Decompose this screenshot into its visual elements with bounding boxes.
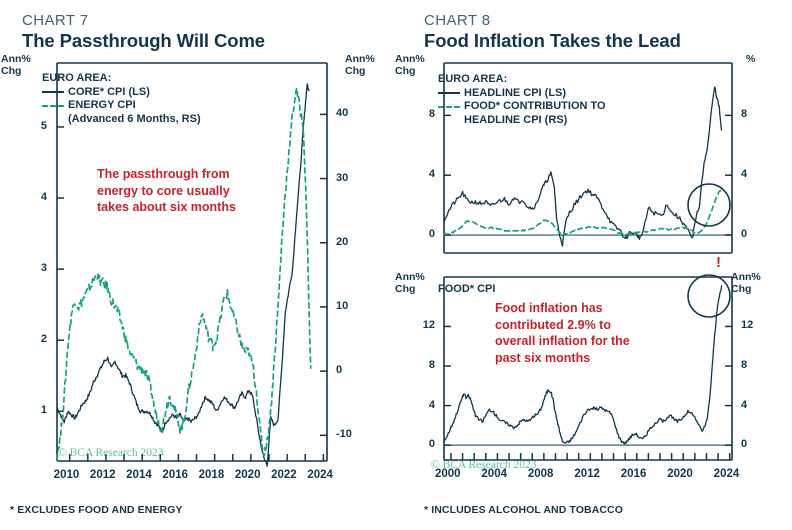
- chart-8-xtick-2008: 2008: [528, 468, 554, 480]
- chart-8-p1-ytick-left-8: 8: [429, 359, 435, 371]
- chart-7-xtick-2012: 2012: [90, 469, 116, 481]
- chart-7-ytick-right-10: 10: [336, 300, 348, 312]
- chart-8-p1-ytick-left-0: 0: [429, 438, 435, 450]
- food-cpi-spike-highlight-circle: [688, 275, 730, 317]
- chart-8-panel: CHART 8 Food Inflation Takes the Lead An…: [396, 0, 792, 530]
- chart-8-xtick-2016: 2016: [621, 468, 647, 480]
- chart-7-xtick-2014: 2014: [126, 469, 152, 481]
- chart-7-xtick-2024: 2024: [307, 469, 333, 481]
- chart-7-ytick-left-3: 3: [41, 262, 47, 274]
- chart-8-p0-ytick-right-0: 0: [741, 228, 747, 240]
- chart-8-p0-ytick-left-8: 8: [429, 108, 435, 120]
- chart-7-ytick-left-2: 2: [41, 333, 47, 345]
- chart-7-ytick-right-0: 0: [336, 364, 342, 376]
- chart-7-xtick-2010: 2010: [54, 469, 80, 481]
- chart-8-p1-ytick-right-4: 4: [741, 399, 747, 411]
- chart-7-ytick-right-30: 30: [336, 172, 348, 184]
- chart-7-ytick-left-4: 4: [41, 191, 47, 203]
- chart-7-xtick-2016: 2016: [162, 469, 188, 481]
- chart-7-xtick-2020: 2020: [235, 469, 261, 481]
- chart-8-xtick-2012: 2012: [574, 468, 600, 480]
- chart-8-p1-ytick-left-4: 4: [429, 399, 435, 411]
- chart-8-p0-ytick-left-0: 0: [429, 228, 435, 240]
- chart-8-p1-ytick-left-12: 12: [423, 319, 435, 331]
- chart-7-ytick-left-1: 1: [41, 404, 47, 416]
- chart-7-plot: [0, 0, 396, 530]
- chart-8-p0-ytick-right-8: 8: [741, 108, 747, 120]
- chart-8-p0-ytick-left-4: 4: [429, 168, 435, 180]
- chart-7-panel: CHART 7 The Passthrough Will Come Ann% C…: [0, 0, 396, 530]
- chart-7-ytick-right--10: -10: [336, 428, 352, 440]
- chart-8-xtick-2000: 2000: [435, 468, 461, 480]
- chart-8-xtick-2004: 2004: [481, 468, 507, 480]
- chart-7-xtick-2018: 2018: [199, 469, 225, 481]
- chart-8-p1-ytick-right-12: 12: [741, 319, 753, 331]
- chart-7-ytick-right-40: 40: [336, 107, 348, 119]
- chart-7-ytick-right-20: 20: [336, 236, 348, 248]
- chart-7-xtick-2022: 2022: [271, 469, 297, 481]
- chart-8-xtick-2020: 2020: [667, 468, 693, 480]
- chart-8-p1-ytick-right-0: 0: [741, 438, 747, 450]
- chart-8-p0-ytick-right-4: 4: [741, 168, 747, 180]
- chart-8-xtick-2024: 2024: [714, 468, 740, 480]
- chart-8-p1-ytick-right-8: 8: [741, 359, 747, 371]
- chart-8-plot: [396, 0, 792, 530]
- chart-7-ytick-left-5: 5: [41, 120, 47, 132]
